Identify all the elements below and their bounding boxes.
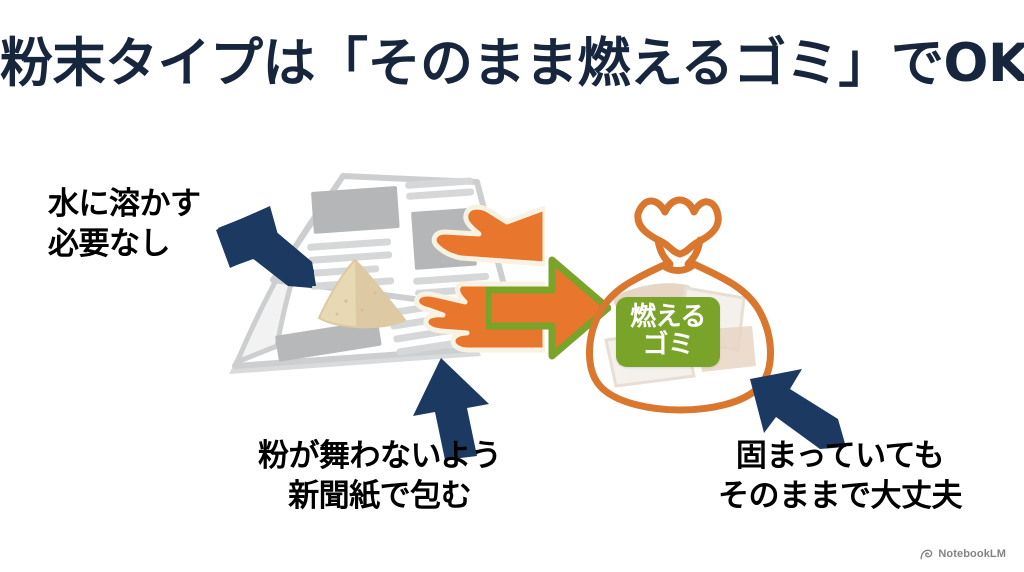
bag-label-line-2: ゴミ xyxy=(642,332,693,360)
watermark-label: NotebookLM xyxy=(938,548,1006,560)
caption-wrap-in-newspaper: 粉が舞わないよう 新聞紙で包む xyxy=(258,436,501,517)
caption-wrap-line-1: 粉が舞わないよう xyxy=(258,436,501,476)
caption-clump-line-2: そのままで大丈夫 xyxy=(718,476,962,516)
caption-no-water-needed: 水に溶かす 必要なし xyxy=(48,184,201,265)
notebooklm-logo-icon xyxy=(920,549,933,560)
caption-water-line-2: 必要なし xyxy=(48,224,201,264)
slide-canvas: 粉末タイプは「そのまま燃えるゴミ」でOK xyxy=(0,0,1024,572)
page-title: 粉末タイプは「そのまま燃えるゴミ」でOK xyxy=(0,34,1024,95)
watermark: NotebookLM xyxy=(920,548,1006,560)
bag-label-burnable-garbage: 燃える ゴミ xyxy=(616,297,720,367)
caption-clump-line-1: 固まっていても xyxy=(718,436,962,476)
bag-label-line-1: 燃える xyxy=(630,304,706,332)
caption-wrap-line-2: 新聞紙で包む xyxy=(258,476,501,516)
caption-clumped-is-fine: 固まっていても そのままで大丈夫 xyxy=(718,436,962,517)
arrow-pointing-down-right-icon xyxy=(212,200,322,295)
caption-water-line-1: 水に溶かす xyxy=(48,184,201,224)
